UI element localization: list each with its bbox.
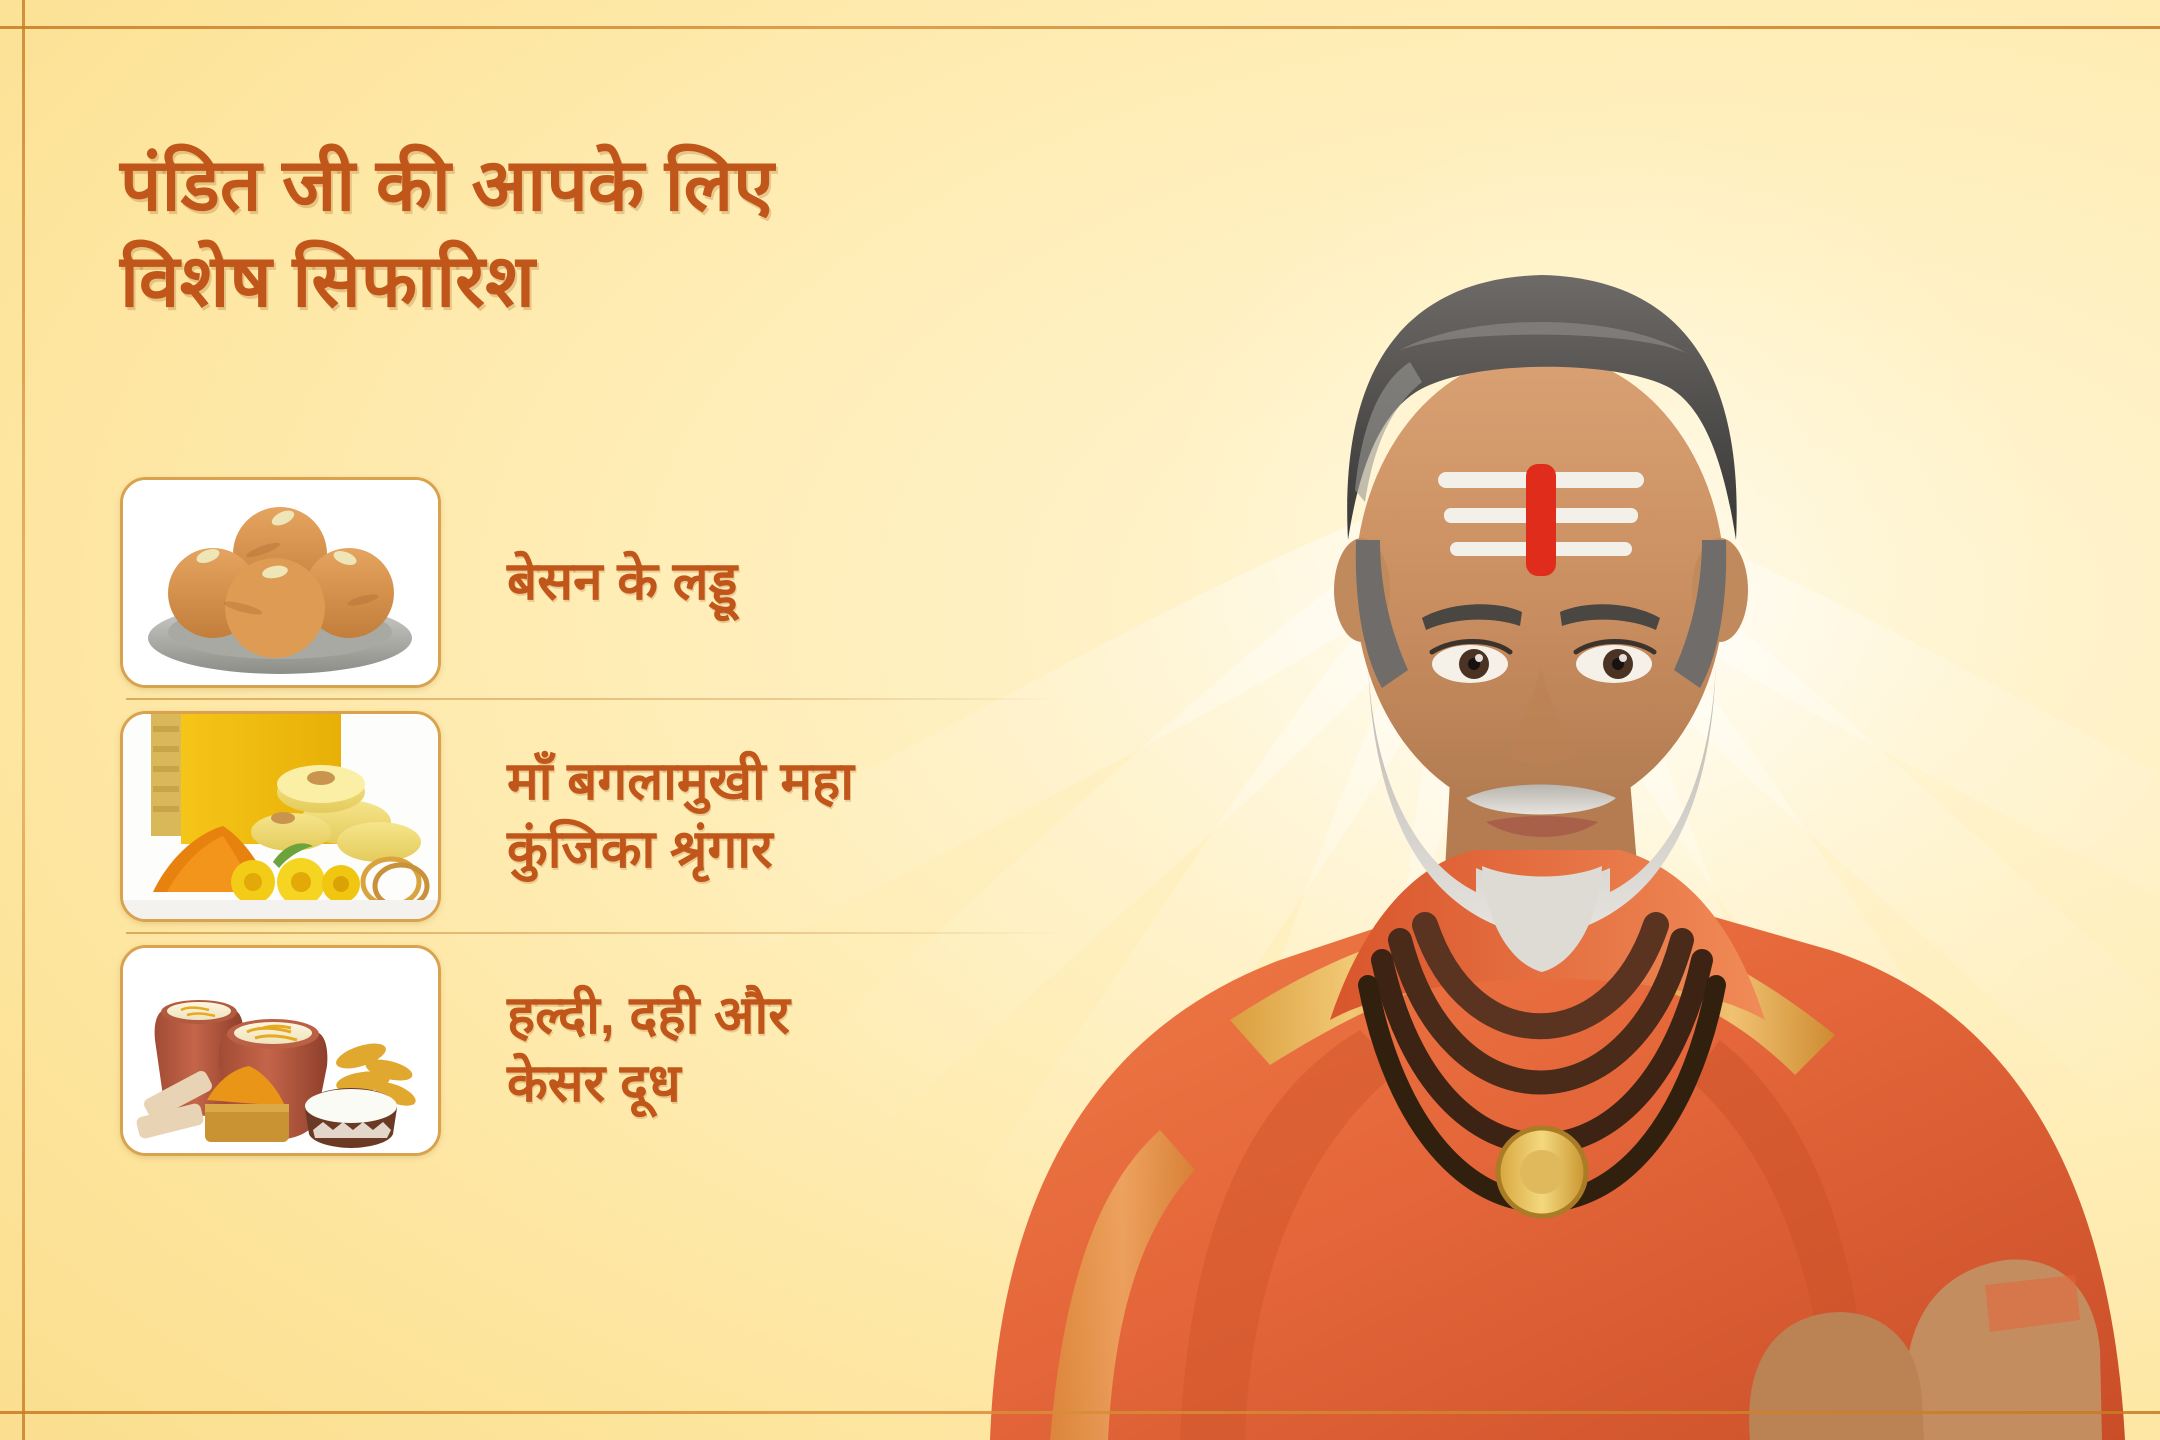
besan-laddu-thumbnail	[120, 477, 441, 688]
list-item-label: हल्दी, दही और केसर दूध	[507, 982, 790, 1118]
list-item[interactable]: माँ बगलामुखी महा कुंजिका श्रृंगार	[120, 700, 1130, 932]
recommendation-list: बेसन के लड्डू	[120, 466, 1130, 1166]
left-content: पंडित जी की आपके लिए विशेष सिफारिश	[120, 0, 1200, 1440]
page-title: पंडित जी की आपके लिए विशेष सिफारिश	[120, 138, 1180, 331]
list-item[interactable]: हल्दी, दही और केसर दूध	[120, 934, 1130, 1166]
list-item-label-line-1: माँ बगलामुखी महा	[507, 748, 854, 816]
list-item-label-line-1: बेसन के लड्डू	[507, 548, 737, 616]
promotional-banner: पंडित जी की आपके लिए विशेष सिफारिश	[0, 0, 2160, 1440]
list-item[interactable]: बेसन के लड्डू	[120, 466, 1130, 698]
list-item-label: बेसन के लड्डू	[507, 548, 737, 616]
headline-line-1: पंडित जी की आपके लिए	[120, 145, 774, 226]
list-item-label: माँ बगलामुखी महा कुंजिका श्रृंगार	[507, 748, 854, 884]
left-edge-rule	[22, 0, 25, 1440]
headline-line-2: विशेष सिफारिश	[120, 234, 1180, 330]
list-item-label-line-1: हल्दी, दही और	[507, 982, 790, 1050]
haldi-shringar-thumbnail	[120, 711, 441, 922]
list-item-label-line-2: केसर दूध	[507, 1050, 790, 1118]
haldi-dahi-kesar-doodh-thumbnail	[120, 945, 441, 1156]
list-item-label-line-2: कुंजिका श्रृंगार	[507, 816, 854, 884]
